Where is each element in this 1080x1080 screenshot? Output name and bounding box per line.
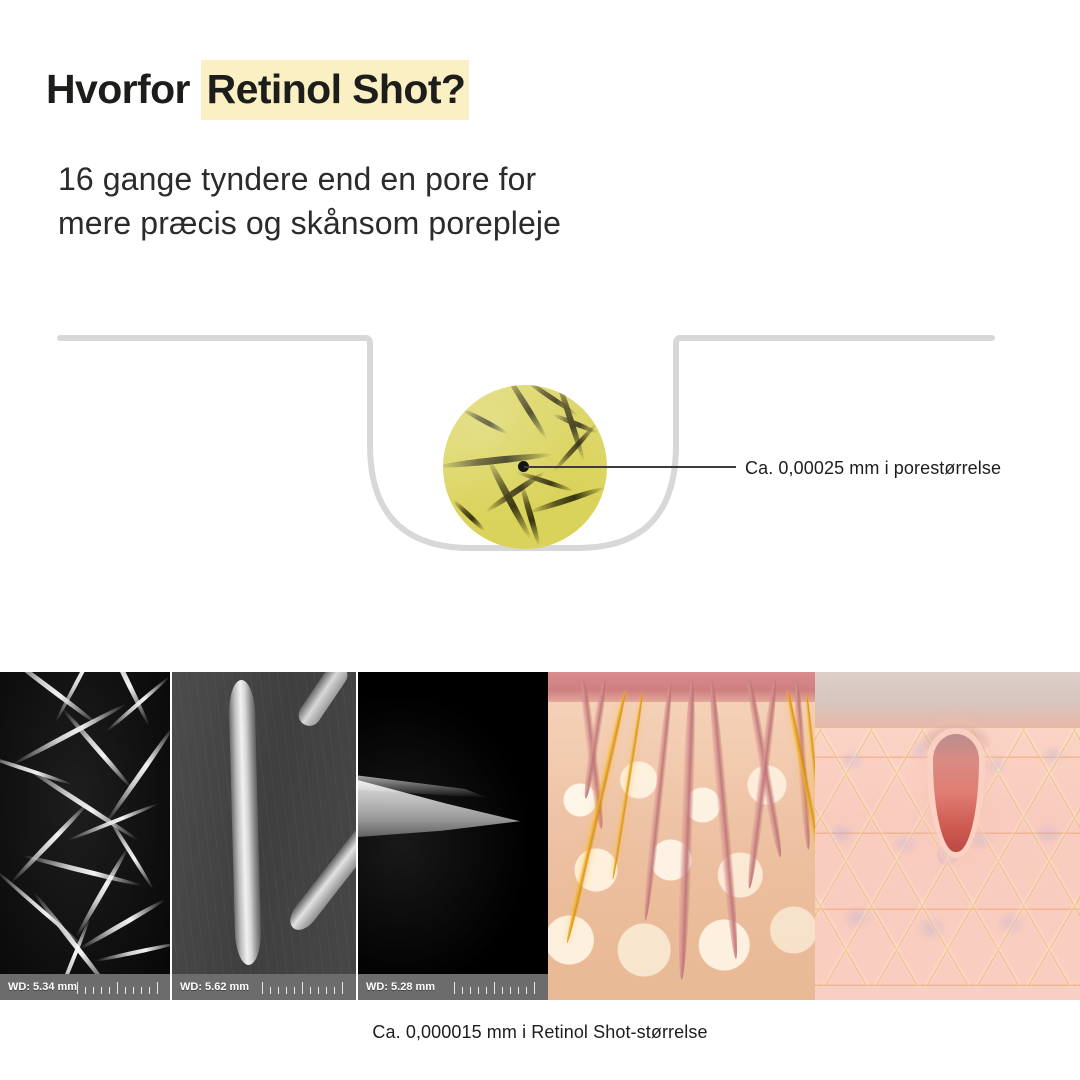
skin-surface-band <box>815 672 1080 728</box>
pore-leader-line <box>524 466 736 468</box>
panel-pore-follicle <box>815 672 1080 1000</box>
panel-sem-needles-field: WD: 5.34 mm <box>0 672 170 1000</box>
strip-caption: Ca. 0,000015 mm i Retinol Shot-størrelse <box>0 1022 1080 1043</box>
sem-ruler-icon <box>77 980 164 994</box>
panel-skin-cross-section <box>548 672 815 1000</box>
sem-ruler-icon <box>454 980 542 994</box>
pore-size-label: Ca. 0,00025 mm i porestørrelse <box>745 458 1001 479</box>
sem-scale-bar: WD: 5.62 mm <box>172 974 356 1000</box>
sem-scale-bar: WD: 5.28 mm <box>358 974 548 1000</box>
sem-ruler-icon <box>262 980 350 994</box>
page-title-highlight: Retinol Shot? <box>201 60 470 120</box>
page-title-prefix: Hvorfor <box>46 66 201 112</box>
panel-sem-needle-tip: WD: 5.28 mm <box>358 672 548 1000</box>
infographic-page: Hvorfor Retinol Shot? 16 gange tyndere e… <box>0 0 1080 1080</box>
sem-working-distance-label: WD: 5.28 mm <box>358 981 435 993</box>
page-subtitle: 16 gange tyndere end en pore for mere pr… <box>58 157 561 245</box>
sem-working-distance-label: WD: 5.34 mm <box>0 981 77 993</box>
sem-scale-bar: WD: 5.34 mm <box>0 974 170 1000</box>
sem-working-distance-label: WD: 5.62 mm <box>172 981 249 993</box>
image-strip: WD: 5.34 mm WD: 5.62 mm <box>0 672 1080 1000</box>
panel-sem-single-needle: WD: 5.62 mm <box>172 672 356 1000</box>
page-title: Hvorfor Retinol Shot? <box>46 60 469 118</box>
